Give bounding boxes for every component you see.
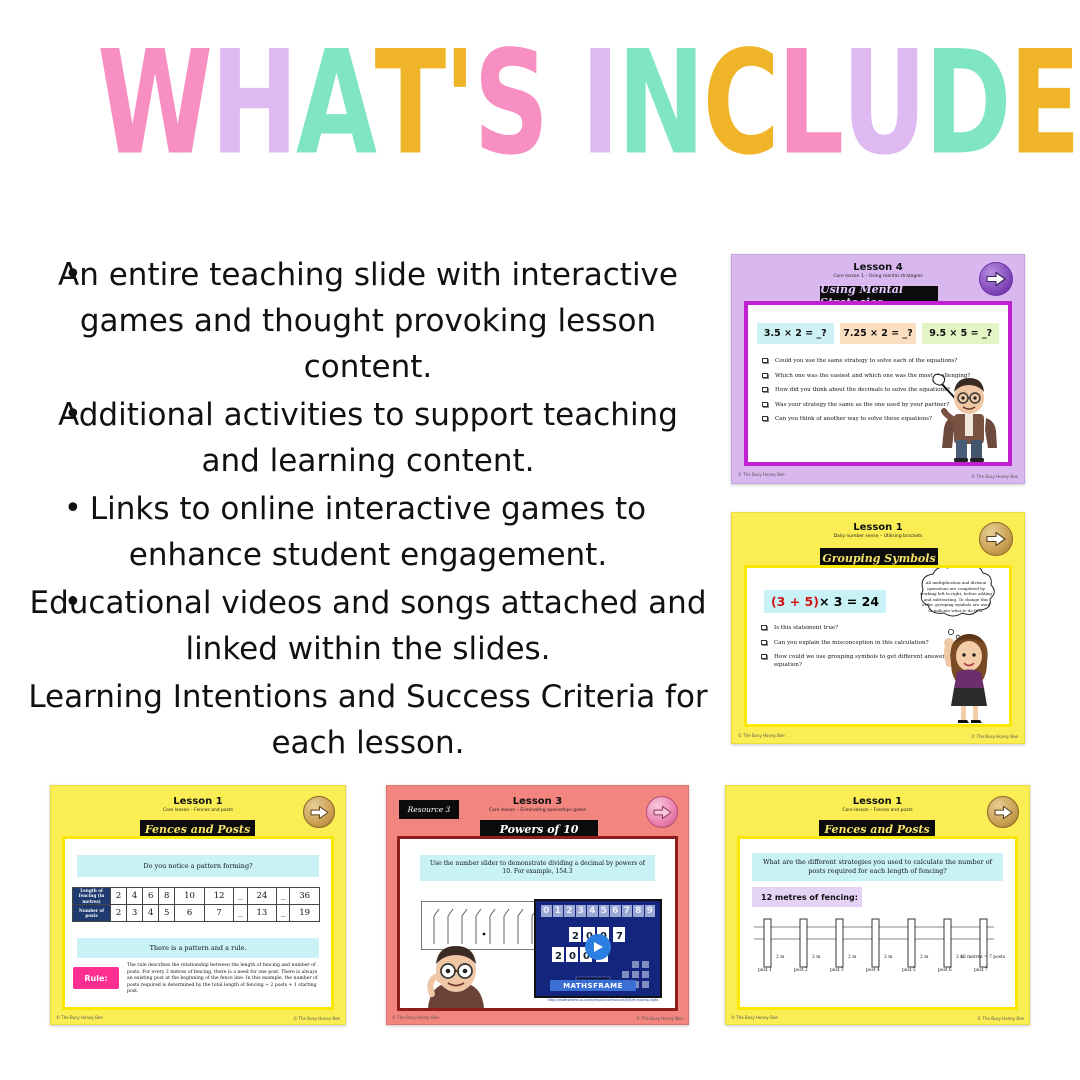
table-cell: 5: [159, 905, 175, 922]
checkbox-icon[interactable]: [762, 402, 768, 407]
fence-gap-label: 2 m: [812, 955, 820, 960]
title-letter: E: [1009, 26, 1078, 183]
fence-post-label: post 1: [758, 968, 772, 973]
prompt-banner: What are the different strategies you us…: [752, 853, 1003, 881]
digit-tile[interactable]: 9: [645, 905, 656, 917]
fence-post-label: post 7: [974, 968, 988, 973]
table-cell: 2: [111, 888, 127, 905]
bitmoji-student-thinking: [418, 942, 492, 1008]
pattern-table: Length of fencing (in metres)24681012_24…: [72, 887, 320, 922]
slide-thumbnail-powers-of-10[interactable]: Resource 3 Lesson 3 Core lesson – Elimin…: [386, 785, 689, 1025]
lesson-number: Lesson 3: [387, 796, 688, 807]
lesson-subtitle: Core lesson – Fences and posts: [726, 808, 1029, 813]
game-screenshot[interactable]: 0123456789 2 0 0 7 2 0 0 7: [534, 899, 662, 998]
fence-gap-label: 2 m: [884, 955, 892, 960]
checkbox-icon[interactable]: [762, 358, 768, 363]
table-row: Number of posts234567_13_19: [73, 905, 320, 922]
slide-content: What are the different strategies you us…: [737, 836, 1018, 1010]
title-letter: H: [211, 26, 296, 183]
slide-content: Use the number slider to demonstrate div…: [397, 836, 678, 1011]
slide-thumbnail-fences-diagram[interactable]: Lesson 1 Core lesson – Fences and posts …: [725, 785, 1030, 1025]
digit-tile[interactable]: 7: [622, 905, 633, 917]
title-letter: T: [375, 26, 444, 183]
mathsframe-logo: MATHSFRAME: [550, 980, 636, 991]
fence-post-label: post 5: [902, 968, 916, 973]
checkbox-icon[interactable]: [761, 640, 767, 645]
title-letter: C: [703, 26, 778, 183]
digit-tile[interactable]: 1: [553, 905, 564, 917]
feature-bullet: •An entire teaching slide with interacti…: [22, 252, 714, 390]
digit-tile[interactable]: 5: [599, 905, 610, 917]
rule-label: Rule:: [73, 967, 119, 989]
digit-tile[interactable]: 4: [587, 905, 598, 917]
checkbox-icon[interactable]: [761, 654, 767, 659]
question-text: Could you use the same strategy to solve…: [775, 357, 957, 365]
table-row: Length of fencing (in metres)24681012_24…: [73, 888, 320, 905]
question-text: Can you explain the misconception in thi…: [774, 639, 929, 647]
copyright-left: © The Busy Honey Bee: [738, 472, 785, 477]
svg-text:2: 2: [555, 951, 562, 962]
table-cell: 4: [127, 888, 143, 905]
digit-strip: 0123456789: [541, 905, 655, 917]
table-cell: 6: [143, 888, 159, 905]
table-row-header: Length of fencing (in metres): [73, 888, 111, 905]
equation-box-3: 9.5 × 5 = _?: [922, 323, 999, 344]
table-cell: 36: [290, 888, 320, 905]
equation-box-2: 7.25 × 2 = _?: [840, 323, 917, 344]
page-title: WHAT'S INCLUDED: [97, 26, 983, 183]
question-text: How did you think about the decimals to …: [775, 386, 950, 394]
table-cell: 19: [290, 905, 320, 922]
title-letter: N: [617, 26, 702, 183]
bitmoji-teacher-with-pointer: [930, 370, 1004, 462]
svg-text:7: 7: [616, 931, 623, 942]
copyright-right: © The Busy Honey Bee: [971, 734, 1018, 739]
fence-gap-label: 2 m: [848, 955, 856, 960]
lesson-number: Lesson 1: [51, 796, 345, 807]
question-text: Can you think of another way to solve th…: [775, 415, 932, 423]
slide-header: Lesson 1 Core lesson – Fences and posts: [51, 796, 345, 813]
equation-display: (3 + 5)× 3 = 24: [764, 590, 886, 613]
fence-diagram: 2 m2 m2 m2 m2 m2 m post 1post 2post 3pos…: [750, 915, 1007, 985]
whats-included-page: WHAT'S INCLUDED •An entire teaching slid…: [0, 0, 1080, 1080]
table-cell: 12: [204, 888, 234, 905]
checkbox-icon[interactable]: [761, 625, 767, 630]
title-letter: U: [842, 26, 925, 183]
fence-post-label: post 6: [938, 968, 952, 973]
table-cell: 24: [247, 888, 277, 905]
pattern-note: There is a pattern and a rule.: [77, 938, 319, 958]
title-letter: [547, 26, 581, 183]
copyright-left: © The Busy Honey Bee: [56, 1015, 103, 1020]
rule-text: The rule describes the relationship betw…: [127, 963, 324, 996]
table-cell: 4: [143, 905, 159, 922]
question-row: Could you use the same strategy to solve…: [762, 357, 998, 365]
closing-line: Learning Intentions and Success Criteria…: [22, 674, 714, 766]
copyright-left: © The Busy Honey Bee: [738, 733, 785, 738]
bitmoji-student-waving: [935, 628, 1003, 724]
digit-tile[interactable]: 2: [564, 905, 575, 917]
title-letter: D: [924, 26, 1009, 183]
copyright-right: © The Busy Honey Bee: [977, 1016, 1024, 1021]
feature-bullet-text: An entire teaching slide with interactiv…: [22, 252, 714, 390]
next-arrow-icon[interactable]: [303, 796, 335, 828]
prompt-banner: Use the number slider to demonstrate div…: [420, 855, 655, 881]
equation-box-1: 3.5 × 2 = _?: [757, 323, 834, 344]
copyright-right: © The Busy Honey Bee: [293, 1016, 340, 1021]
lesson-subtitle: Core lesson – Eliminating spaceships gam…: [387, 808, 688, 813]
feature-bullet-text: Links to online interactive games to enh…: [22, 486, 714, 578]
feature-bullet-text: Educational videos and songs attached an…: [22, 580, 714, 672]
copyright-left: © The Busy Honey Bee: [392, 1015, 439, 1020]
fence-post-label: post 2: [794, 968, 808, 973]
table-cell: _: [277, 888, 290, 905]
table-row-header: Number of posts: [73, 905, 111, 922]
svg-text:0: 0: [569, 951, 576, 962]
fence-summary-note: 12 metres = 7 posts: [960, 955, 1005, 960]
digit-tile[interactable]: 3: [576, 905, 587, 917]
prompt-banner: Do you notice a pattern forming?: [77, 855, 319, 877]
feature-bullet: •Educational videos and songs attached a…: [22, 580, 714, 672]
table-cell: 8: [159, 888, 175, 905]
bullet-marker-icon: •: [64, 580, 82, 626]
bullet-marker-icon: •: [64, 486, 82, 532]
table-cell: 13: [247, 905, 277, 922]
copyright-right: © The Busy Honey Bee: [971, 474, 1018, 479]
slide-thumbnail-grouping-symbols[interactable]: Lesson 1 Daily number sense – Utilising …: [731, 512, 1025, 744]
copyright-left: © The Busy Honey Bee: [731, 1015, 778, 1020]
thought-bubble-text: All multiplication and division operatio…: [920, 580, 992, 614]
feature-bullet: •Links to online interactive games to en…: [22, 486, 714, 578]
features-list: •An entire teaching slide with interacti…: [22, 252, 714, 766]
title-letter: W: [97, 26, 210, 183]
checkbox-icon[interactable]: [762, 373, 768, 378]
svg-text:2: 2: [572, 931, 579, 942]
bullet-marker-icon: •: [64, 392, 82, 438]
feature-bullet-text: Additional activities to support teachin…: [22, 392, 714, 484]
fence-gap-label: 2 m: [776, 955, 784, 960]
equation-row: 3.5 × 2 = _? 7.25 × 2 = _? 9.5 × 5 = _?: [757, 323, 999, 344]
bullet-marker-icon: •: [64, 252, 82, 298]
slide-header: Lesson 1 Core lesson – Fences and posts: [726, 796, 1029, 813]
table-cell: _: [277, 905, 290, 922]
equation-remainder: × 3 = 24: [819, 594, 879, 609]
lesson-number: Lesson 1: [726, 796, 1029, 807]
lesson-subtitle: Core lesson – Fences and posts: [51, 808, 345, 813]
question-text: Is this statement true?: [774, 624, 838, 632]
title-letter: S: [473, 26, 546, 183]
next-arrow-icon[interactable]: [987, 796, 1019, 828]
title-letter: A: [296, 26, 375, 183]
next-arrow-icon[interactable]: [646, 796, 678, 828]
checkbox-icon[interactable]: [762, 416, 768, 421]
game-url-link[interactable]: https://mathsframe.co.uk/en/resources/re…: [537, 998, 669, 1002]
equation-brackets: (3 + 5): [771, 594, 819, 609]
slide-thumbnail-lesson-4[interactable]: Lesson 4 Core lesson 1 – Using mental st…: [731, 254, 1025, 484]
next-arrow-icon[interactable]: [979, 522, 1013, 556]
next-arrow-icon[interactable]: [979, 262, 1013, 296]
slide-header: Lesson 3 Core lesson – Eliminating space…: [387, 796, 688, 813]
feature-bullet: •Additional activities to support teachi…: [22, 392, 714, 484]
table-cell: 7: [204, 905, 234, 922]
slide-thumbnail-fences-table[interactable]: Lesson 1 Core lesson – Fences and posts …: [50, 785, 346, 1025]
slide-content: (3 + 5)× 3 = 24 All multiplication and d…: [744, 565, 1012, 727]
fence-post-label: post 4: [866, 968, 880, 973]
table-cell: 2: [111, 905, 127, 922]
table-cell: _: [234, 888, 247, 905]
title-letter: L: [777, 26, 841, 183]
section-label: 12 metres of fencing:: [752, 887, 862, 907]
checkbox-icon[interactable]: [762, 387, 768, 392]
title-letter: ': [444, 26, 474, 183]
title-letter: I: [581, 26, 618, 183]
table-cell: 3: [127, 905, 143, 922]
slide-content: Do you notice a pattern forming? Length …: [62, 836, 334, 1010]
digit-tile[interactable]: 0: [541, 905, 552, 917]
digit-tile[interactable]: 6: [610, 905, 621, 917]
digit-tile[interactable]: 8: [633, 905, 644, 917]
table-cell: 6: [175, 905, 205, 922]
table-cell: 10: [175, 888, 205, 905]
table-cell: _: [234, 905, 247, 922]
fence-gap-label: 2 m: [920, 955, 928, 960]
play-button-icon[interactable]: [585, 934, 611, 960]
fence-post-label: post 3: [830, 968, 844, 973]
slide-content: 3.5 × 2 = _? 7.25 × 2 = _? 9.5 × 5 = _? …: [744, 301, 1012, 466]
copyright-right: © The Busy Honey Bee: [636, 1016, 683, 1021]
question-text: Was your strategy the same as the one us…: [775, 401, 949, 409]
